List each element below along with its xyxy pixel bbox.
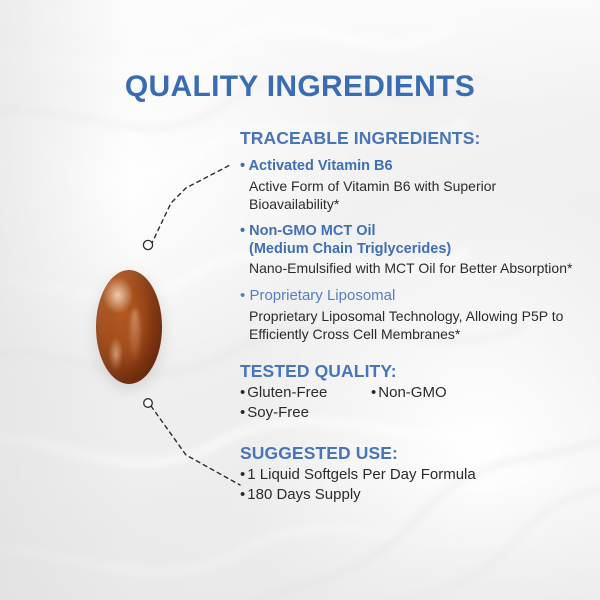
ingredient-item: • Activated Vitamin B6 Active Form of Vi… [240, 158, 590, 214]
ingredient-bullet: • [240, 287, 245, 304]
list-item: •Soy-Free [240, 403, 371, 423]
ingredient-name-text: Proprietary Liposomal [249, 287, 395, 304]
ingredient-name-text: Activated Vitamin B6 [249, 158, 393, 174]
list-item-label: Non-GMO [378, 384, 446, 401]
ingredient-bullet: • [240, 223, 245, 239]
ingredient-name-secondary: (Medium Chain Triglycerides) [240, 241, 590, 259]
ingredient-description: Active Form of Vitamin B6 with Superior … [240, 177, 590, 214]
ingredient-name: • Proprietary Liposomal [240, 287, 590, 306]
section-tested-quality: TESTED QUALITY: •Gluten-Free •Non-GMO •S… [240, 361, 590, 423]
list-bullet: • [240, 384, 245, 401]
ingredient-description: Proprietary Liposomal Technology, Allowi… [240, 307, 590, 344]
tested-quality-row: •Gluten-Free •Non-GMO [240, 383, 590, 403]
suggested-use-heading: SUGGESTED USE: [240, 443, 590, 464]
product-capsule [96, 270, 162, 384]
traceable-heading: TRACEABLE INGREDIENTS: [240, 128, 590, 149]
ingredient-item: • Proprietary Liposomal Proprietary Lipo… [240, 287, 590, 344]
tested-quality-heading: TESTED QUALITY: [240, 361, 590, 382]
list-item-label: Soy-Free [247, 404, 309, 421]
list-item-label: 1 Liquid Softgels Per Day Formula [247, 466, 475, 483]
list-item: •Non-GMO [371, 383, 590, 403]
list-item: •1 Liquid Softgels Per Day Formula [240, 465, 590, 485]
list-bullet: • [240, 404, 245, 421]
list-bullet: • [371, 384, 376, 401]
ingredient-name: • Non-GMO MCT Oil [240, 223, 590, 241]
section-traceable-ingredients: TRACEABLE INGREDIENTS: • Activated Vitam… [240, 128, 590, 343]
product-infographic: QUALITY INGREDIENTS TRACEABLE INGREDIENT… [0, 0, 600, 600]
ingredient-description: Nano-Emulsified with MCT Oil for Better … [240, 259, 590, 277]
list-bullet: • [240, 486, 245, 503]
ingredient-item: • Non-GMO MCT Oil (Medium Chain Triglyce… [240, 223, 590, 278]
ingredient-name-text: Non-GMO MCT Oil [249, 223, 375, 239]
ingredient-name: • Activated Vitamin B6 [240, 158, 590, 176]
spacer [371, 403, 590, 423]
section-suggested-use: SUGGESTED USE: •1 Liquid Softgels Per Da… [240, 443, 590, 505]
list-item: •Gluten-Free [240, 383, 371, 403]
tested-quality-row: •Soy-Free [240, 403, 590, 423]
suggested-use-list: •1 Liquid Softgels Per Day Formula •180 … [240, 465, 590, 505]
content-column: TRACEABLE INGREDIENTS: • Activated Vitam… [240, 128, 590, 505]
list-item: •180 Days Supply [240, 485, 590, 505]
list-bullet: • [240, 466, 245, 483]
tested-quality-list: •Gluten-Free •Non-GMO •Soy-Free [240, 383, 590, 423]
softgel-capsule-body [96, 270, 162, 384]
page-title: QUALITY INGREDIENTS [0, 70, 600, 104]
list-item-label: 180 Days Supply [247, 486, 360, 503]
ingredient-bullet: • [240, 158, 245, 174]
list-item-label: Gluten-Free [247, 384, 327, 401]
